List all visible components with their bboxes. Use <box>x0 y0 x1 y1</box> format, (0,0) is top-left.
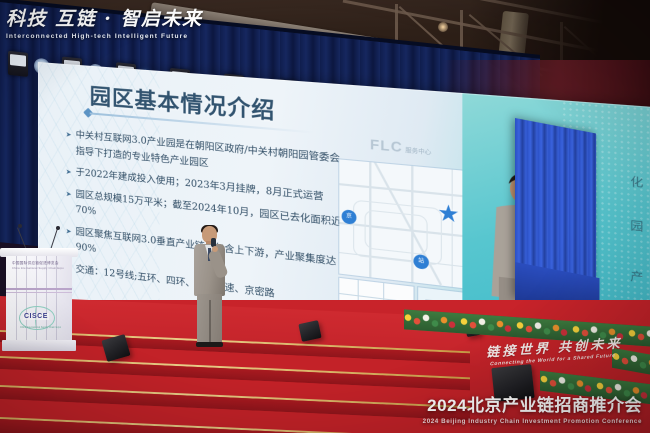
podium-microphone-head <box>18 224 22 228</box>
brand-slogan-cn: 科技 互链 · 智启未来 <box>6 4 206 31</box>
speaker-shoes <box>196 342 223 347</box>
brand-overlay: 科技 互链 · 智启未来 Interconnected High-tech In… <box>6 4 206 40</box>
podium-base <box>2 340 76 351</box>
conference-photo: ❅ ❅ ❅ 园区基本情况介绍 FLC服务中心 中关村互联网3.0产业园是在朝阳区… <box>0 0 650 433</box>
speaker-leg-separation <box>209 300 211 344</box>
podium-accent-band <box>6 288 72 290</box>
event-title-overlay: 2024北京产业链招商推介会 2024 Beijing Industry Cha… <box>423 391 642 425</box>
event-title-cn: 2024北京产业链招商推介会 <box>423 391 642 416</box>
podium-accent-band-secondary <box>6 292 72 293</box>
event-title-en: 2024 Beijing Industry Chain Investment P… <box>423 418 642 425</box>
podium-microphone-head <box>56 226 60 230</box>
podium-event-name-en: China International Supply Chain Expo <box>12 267 64 270</box>
brand-slogan-en: Interconnected High-tech Intelligent Fut… <box>6 33 206 40</box>
ceiling-light <box>438 22 448 32</box>
speaker-podium: 中国国际供应链促进博览会 China International Supply … <box>2 248 76 358</box>
podium-event-name-cn: 中国国际供应链促进博览会 <box>12 261 59 266</box>
cisce-logo-word: CISCE <box>23 313 49 320</box>
stage-speaker-person <box>186 226 234 346</box>
cisce-logo: CISCE China International Supply Chain E… <box>16 306 56 330</box>
speaker-hand <box>212 246 218 252</box>
stage-light-fixture <box>8 51 28 77</box>
cisce-logo-subtext: China International Supply Chain Expo <box>20 326 61 329</box>
